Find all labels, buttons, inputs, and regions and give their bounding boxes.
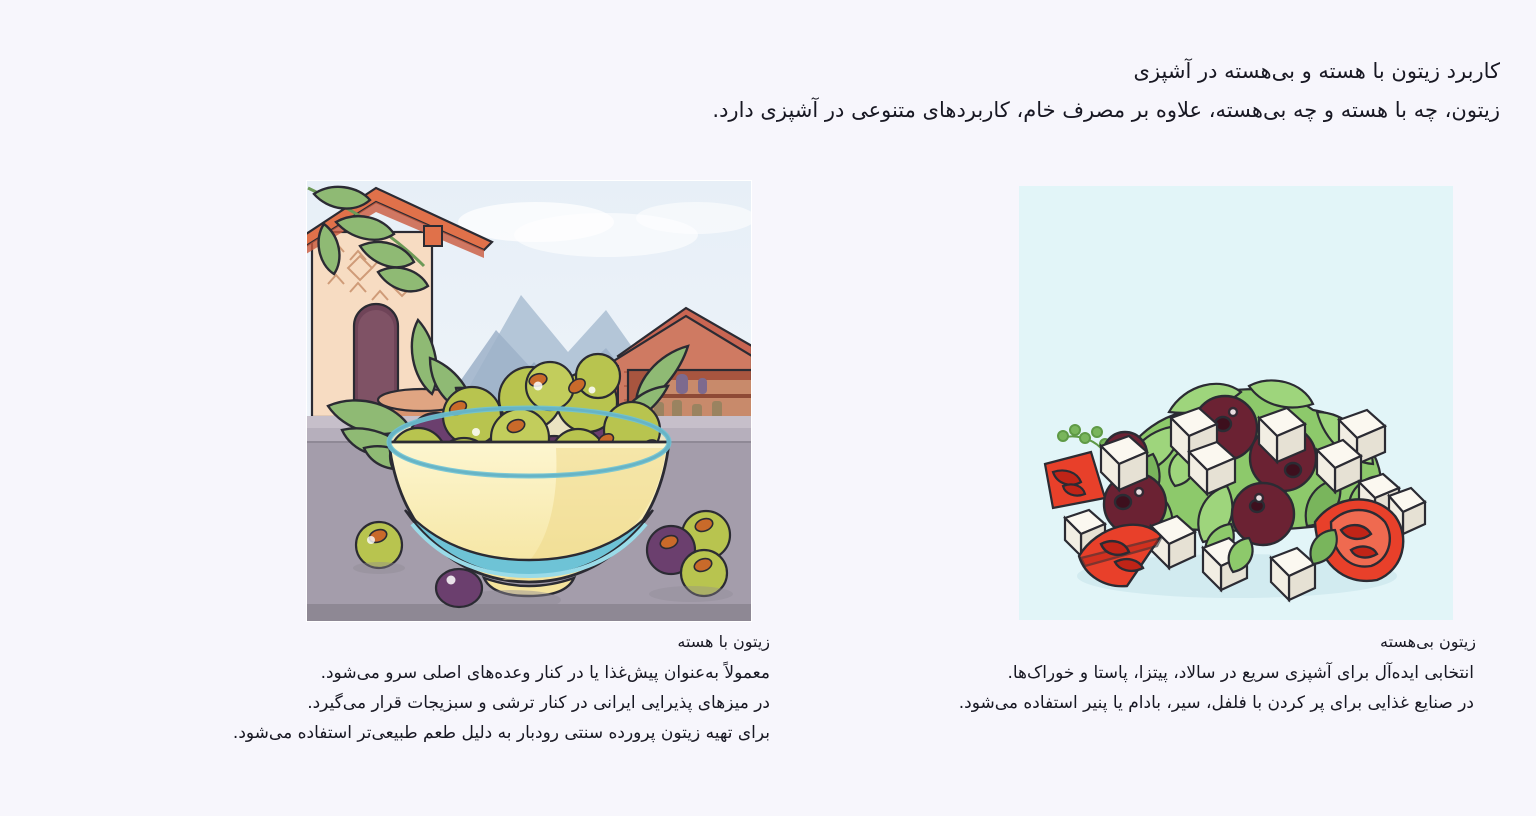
heading-block: کاربرد زیتون با هسته و بی‌هسته در آشپزی … (440, 54, 1500, 128)
column-olives-with-pit: معمولاً به‌عنوان پیش‌غذا یا در کنار وعده… (64, 658, 770, 748)
column-olives-pitted: انتخابی ایده‌آل برای آشپزی سریع در سالاد… (784, 658, 1474, 718)
document-page: کاربرد زیتون با هسته و بی‌هسته در آشپزی … (0, 0, 1536, 816)
page-title: کاربرد زیتون با هسته و بی‌هسته در آشپزی (440, 54, 1500, 88)
right-line-1: انتخابی ایده‌آل برای آشپزی سریع در سالاد… (784, 658, 1474, 688)
olives-pitted-illustration (1019, 186, 1453, 620)
caption-olives-with-pit: زیتون با هسته (677, 630, 770, 654)
left-line-3: برای تهیه زیتون پرورده سنتی رودبار به دل… (64, 718, 770, 748)
caption-olives-pitted: زیتون بی‌هسته (1380, 630, 1476, 654)
figure-olives-with-pit (306, 180, 752, 622)
olives-with-pit-illustration (306, 180, 752, 622)
body-columns: معمولاً به‌عنوان پیش‌غذا یا در کنار وعده… (0, 658, 1536, 808)
figure-olives-pitted (1019, 186, 1453, 620)
left-line-1: معمولاً به‌عنوان پیش‌غذا یا در کنار وعده… (64, 658, 770, 688)
caption-row: زیتون با هسته زیتون بی‌هسته (0, 630, 1536, 660)
page-subtitle: زیتون، چه با هسته و چه بی‌هسته، علاوه بر… (440, 92, 1500, 128)
right-line-2: در صنایع غذایی برای پر کردن با فلفل، سیر… (784, 688, 1474, 718)
figures-row (0, 180, 1536, 625)
left-line-2: در میزهای پذیرایی ایرانی در کنار ترشی و … (64, 688, 770, 718)
